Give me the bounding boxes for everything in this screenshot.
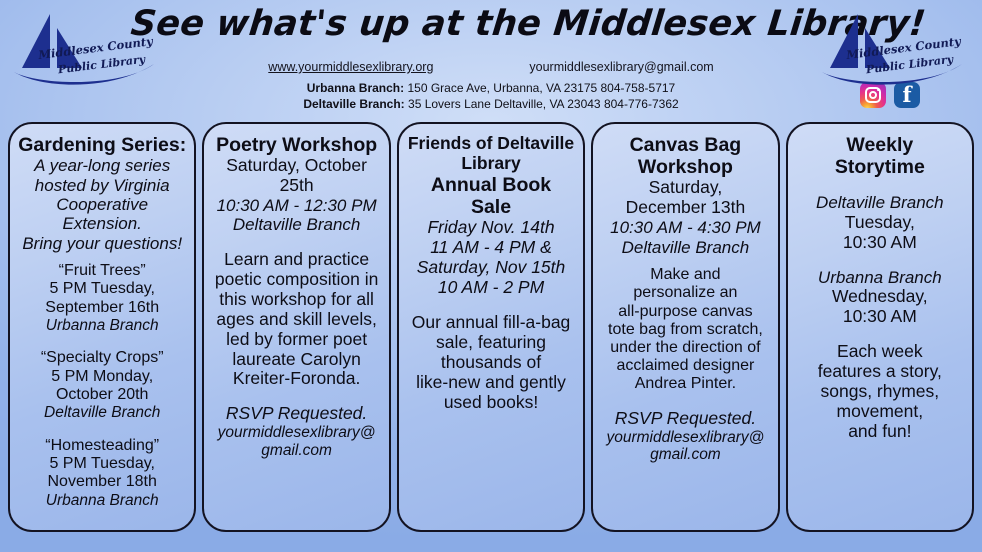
event-card-canvas-bag-workshop: Canvas BagWorkshopSaturday,December 13th… [591,122,779,532]
event-card-line: Learn and practice [212,250,380,270]
event-card-line: yourmiddlesexlibrary@ [601,429,769,447]
event-card-line: Deltaville Branch [796,193,964,212]
event-card-line: 10:30 AM - 12:30 PM [212,196,380,215]
event-card-line: led by former poet [212,330,380,350]
event-card-weekly-storytime: WeeklyStorytimeDeltaville BranchTuesday,… [786,122,974,532]
spacer [212,235,380,250]
event-card-line: “Specialty Crops” [18,349,186,367]
event-card-line: “Homesteading” [18,437,186,455]
spacer [212,389,380,404]
event-card-line: all-purpose canvas [601,303,769,321]
event-card-line: 10 AM - 2 PM [407,278,575,298]
event-card-line: this workshop for all [212,290,380,310]
event-card-line: Wednesday, [796,287,964,307]
library-logo-right: Middlesex County Public Library [812,6,978,104]
event-card-line: Saturday, Nov 15th [407,258,575,278]
spacer [796,327,964,342]
urbanna-branch-info: 150 Grace Ave, Urbanna, VA 23175 804-758… [407,81,675,95]
event-card-line: laureate Carolyn [212,350,380,370]
event-card-row: Gardening Series:A year-long serieshoste… [0,122,982,532]
event-card-line: Workshop [601,156,769,178]
event-card-line: movement, [796,402,964,422]
event-card-gardening-series: Gardening Series:A year-long serieshoste… [8,122,196,532]
event-card-line: RSVP Requested. [212,404,380,424]
spacer [407,298,575,313]
event-card-title: Poetry Workshop [212,134,380,156]
event-card-line: November 18th [18,473,186,491]
event-card-body: Gardening Series:A year-long serieshoste… [18,134,186,509]
event-card-body: Friends of DeltavilleLibraryAnnual BookS… [407,134,575,413]
event-card-line: December 13th [601,198,769,218]
spacer [18,422,186,437]
spacer [796,253,964,268]
event-card-line: Storytime [796,156,964,178]
event-card-title: Gardening Series: [18,134,186,156]
event-card-line: thousands of [407,353,575,373]
flyer-header: Middlesex County Public Library See what… [0,0,982,118]
event-card-line: Sale [407,196,575,218]
spacer [796,178,964,193]
event-card-line: acclaimed designer [601,357,769,375]
event-card-line: September 16th [18,299,186,317]
event-card-friends-book-sale: Friends of DeltavilleLibraryAnnual BookS… [397,122,585,532]
urbanna-branch-label: Urbanna Branch: [307,81,404,95]
spacer [18,334,186,349]
event-card-line: under the direction of [601,339,769,357]
event-card-line: 5 PM Tuesday, [18,455,186,473]
spacer [601,257,769,266]
event-card-line: RSVP Requested. [601,409,769,429]
event-card-line: Bring your questions! [18,234,186,253]
event-card-line: Urbanna Branch [796,268,964,287]
event-card-title: Weekly [796,134,964,156]
event-card-line: 25th [212,176,380,196]
spacer [18,253,186,262]
event-card-line: “Fruit Trees” [18,262,186,280]
event-card-body: Poetry WorkshopSaturday, October25th10:3… [212,134,380,460]
event-card-poetry-workshop: Poetry WorkshopSaturday, October25th10:3… [202,122,390,532]
event-card-line: Our annual fill-a-bag [407,313,575,333]
event-card-title: Canvas Bag [601,134,769,156]
event-card-line: Make and [601,266,769,284]
event-card-line: Urbanna Branch [18,317,186,335]
spacer [601,394,769,409]
event-card-line: 10:30 AM [796,307,964,327]
event-card-line: used books! [407,393,575,413]
event-card-line: and fun! [796,422,964,442]
event-card-line: Annual Book [407,174,575,196]
event-card-line: Urbanna Branch [18,492,186,510]
event-card-line: tote bag from scratch, [601,321,769,339]
event-card-line: 10:30 AM - 4:30 PM [601,218,769,237]
page-title: See what's up at the Middlesex Library! [129,4,853,44]
event-card-line: A year-long series [18,156,186,175]
event-card-line: Saturday, October [212,156,380,176]
deltaville-branch-info: 35 Lovers Lane Deltaville, VA 23043 804-… [408,97,679,111]
event-card-line: Andrea Pinter. [601,375,769,393]
event-card-line: songs, rhymes, [796,382,964,402]
event-card-line: Friday Nov. 14th [407,218,575,238]
event-card-line: Deltaville Branch [601,238,769,257]
event-card-title: Friends of Deltaville [407,134,575,154]
event-card-line: gmail.com [601,446,769,464]
deltaville-branch-label: Deltaville Branch: [303,97,404,111]
event-card-line: sale, featuring [407,333,575,353]
event-card-line: 5 PM Tuesday, [18,280,186,298]
event-card-line: Saturday, [601,178,769,198]
event-card-line: Library [407,154,575,174]
event-card-line: Each week [796,342,964,362]
library-events-flyer: Middlesex County Public Library See what… [0,0,982,552]
email-address[interactable]: yourmiddlesexlibrary@gmail.com [529,60,713,74]
event-card-body: Canvas BagWorkshopSaturday,December 13th… [601,134,769,464]
event-card-line: Cooperative Extension. [18,195,186,234]
website-link[interactable]: www.yourmiddlesexlibrary.org [268,60,433,74]
event-card-line: Deltaville Branch [18,404,186,422]
event-card-line: ages and skill levels, [212,310,380,330]
event-card-line: hosted by Virginia [18,176,186,195]
event-card-body: WeeklyStorytimeDeltaville BranchTuesday,… [796,134,964,442]
event-card-line: October 20th [18,386,186,404]
event-card-line: personalize an [601,284,769,302]
event-card-line: Deltaville Branch [212,215,380,234]
event-card-line: 11 AM - 4 PM & [407,238,575,258]
event-card-line: poetic composition in [212,270,380,290]
event-card-line: gmail.com [212,442,380,460]
event-card-line: 10:30 AM [796,233,964,253]
event-card-line: like-new and gently [407,373,575,393]
event-card-line: features a story, [796,362,964,382]
sailboat-logo-icon: Middlesex County Public Library [812,6,978,104]
event-card-line: Tuesday, [796,213,964,233]
event-card-line: Kreiter-Foronda. [212,369,380,389]
event-card-line: 5 PM Monday, [18,368,186,386]
event-card-line: yourmiddlesexlibrary@ [212,424,380,442]
